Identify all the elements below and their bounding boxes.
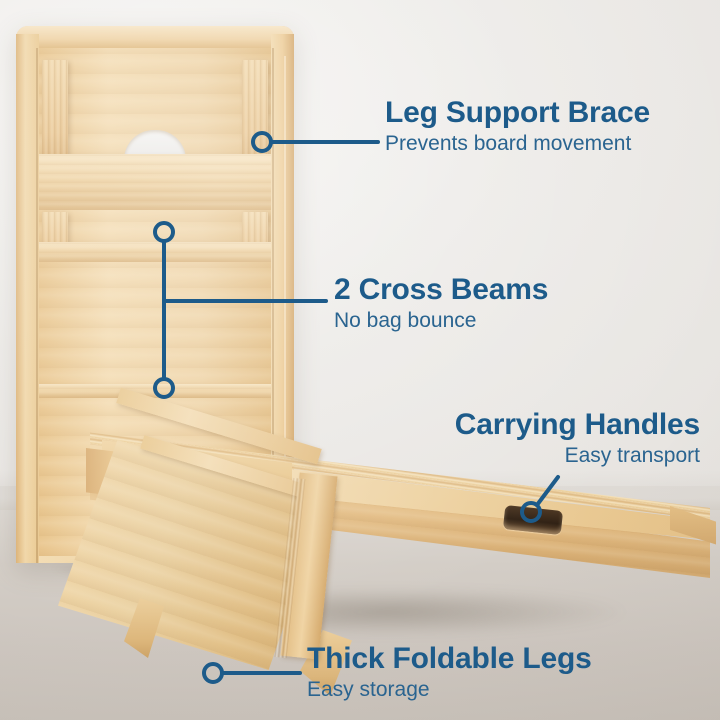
callout-title-carrying-handles: Carrying Handles <box>455 409 700 441</box>
cross-beam-1 <box>38 154 272 210</box>
leg-support-brace-left <box>42 60 68 164</box>
callout-subtitle-carrying-handles: Easy transport <box>455 444 700 469</box>
callout-cross-beams: 2 Cross Beams No bag bounce <box>334 274 548 334</box>
callout-title-cross-beams: 2 Cross Beams <box>334 274 548 306</box>
infographic-scene: Leg Support Brace Prevents board movemen… <box>0 0 720 720</box>
top-frame-rail <box>16 26 294 48</box>
callout-title-leg-support-brace: Leg Support Brace <box>385 97 650 129</box>
board-lower-panel <box>38 262 272 388</box>
callout-leg-support-brace: Leg Support Brace Prevents board movemen… <box>385 97 650 157</box>
callout-subtitle-foldable-legs: Easy storage <box>307 678 592 703</box>
callout-subtitle-leg-support-brace: Prevents board movement <box>385 132 650 157</box>
callout-carrying-handles: Carrying Handles Easy transport <box>455 409 700 469</box>
callout-title-foldable-legs: Thick Foldable Legs <box>307 643 592 675</box>
callout-foldable-legs: Thick Foldable Legs Easy storage <box>307 643 592 703</box>
cross-beam-2 <box>38 242 272 262</box>
callout-subtitle-cross-beams: No bag bounce <box>334 309 548 334</box>
